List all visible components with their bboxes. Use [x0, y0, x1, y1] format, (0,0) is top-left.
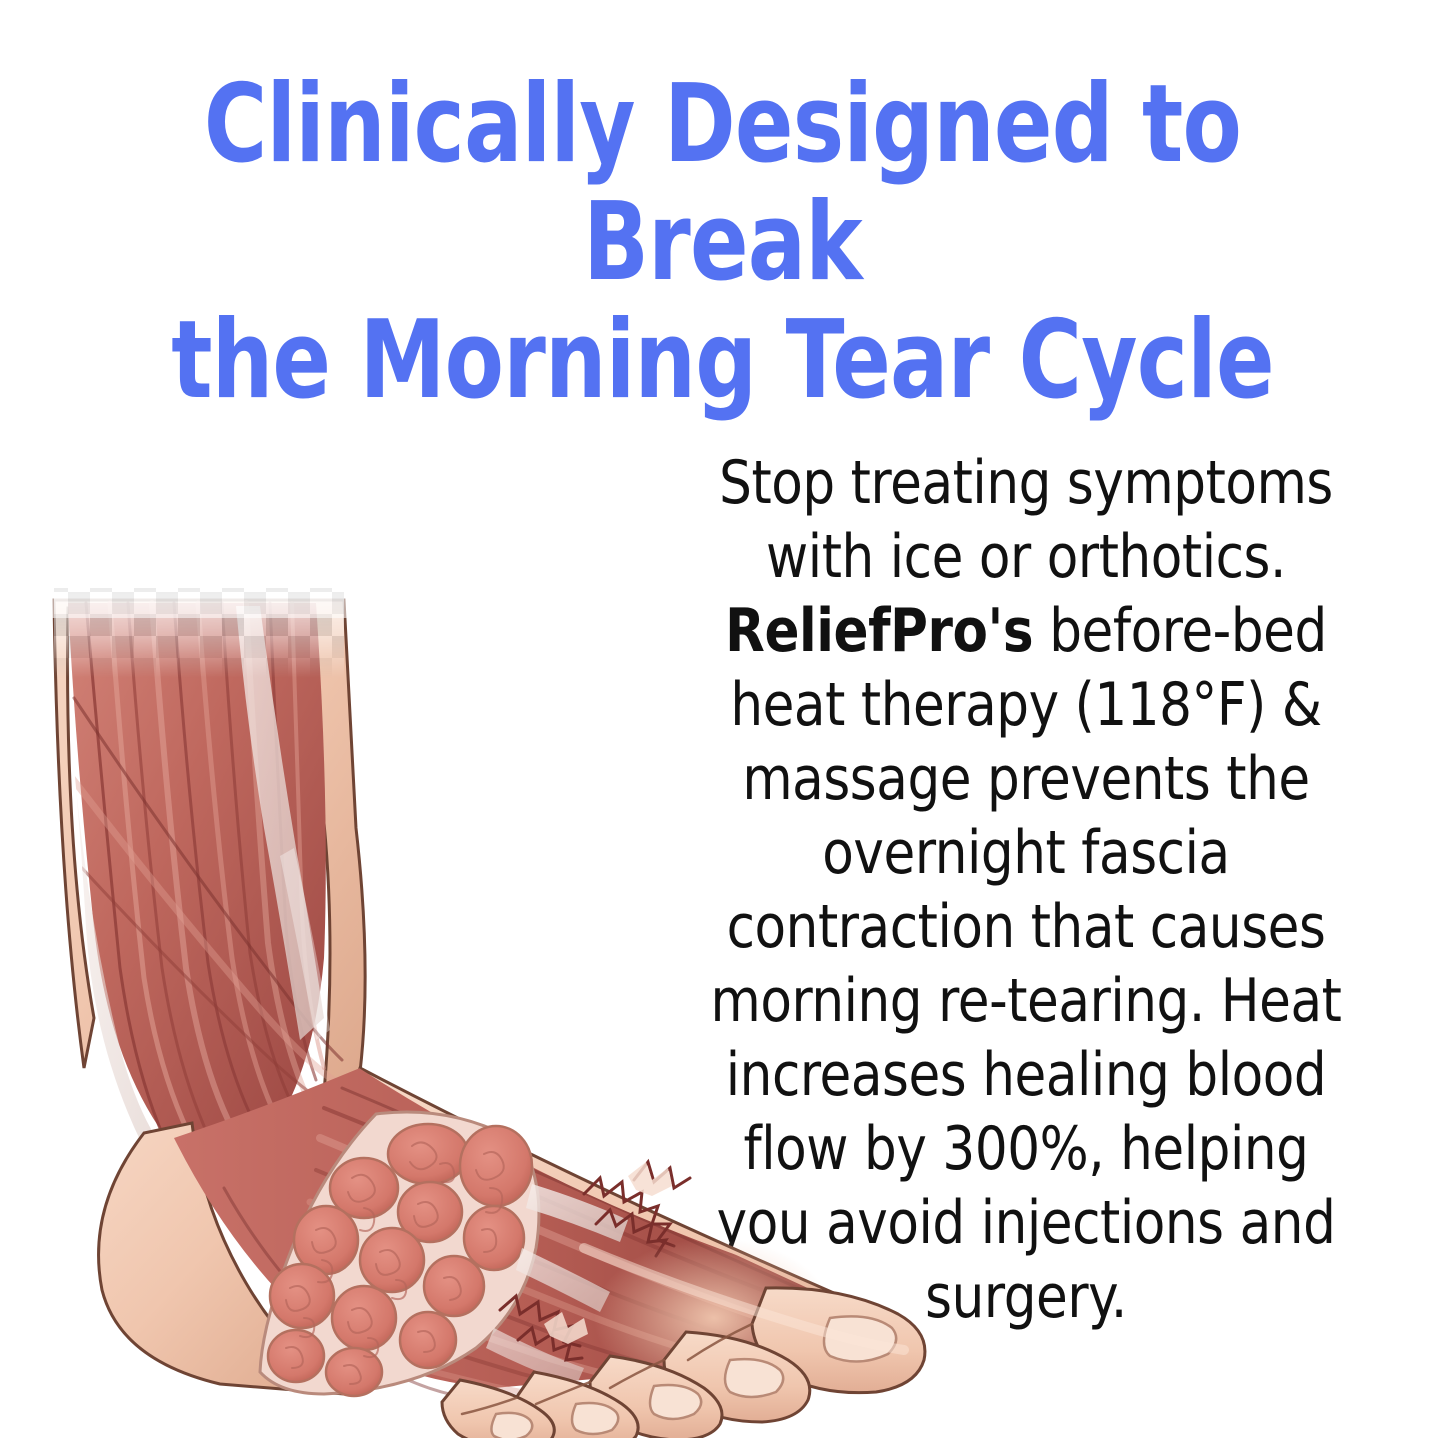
lower-leg-group: [52, 588, 365, 1152]
fascicle: [326, 1348, 382, 1396]
fascicle: [460, 1126, 532, 1206]
fascicle: [270, 1264, 334, 1328]
fascicle: [388, 1124, 468, 1184]
toenail-third: [650, 1385, 701, 1419]
fascicle: [332, 1286, 396, 1350]
fascicle: [268, 1330, 324, 1382]
fascicle: [360, 1228, 424, 1292]
poster-canvas: Clinically Designed to Break the Morning…: [0, 0, 1445, 1445]
foot-group: [99, 1068, 925, 1438]
page-title: Clinically Designed to Break the Morning…: [145, 66, 1301, 420]
fascicle: [464, 1206, 524, 1270]
fascicle: [400, 1312, 456, 1368]
toenail-little: [491, 1413, 532, 1438]
fascicle: [424, 1256, 484, 1316]
toenail-second: [725, 1359, 783, 1397]
anatomical-foot-muscles-illustration: [24, 548, 944, 1438]
toenail-fourth: [572, 1403, 618, 1434]
